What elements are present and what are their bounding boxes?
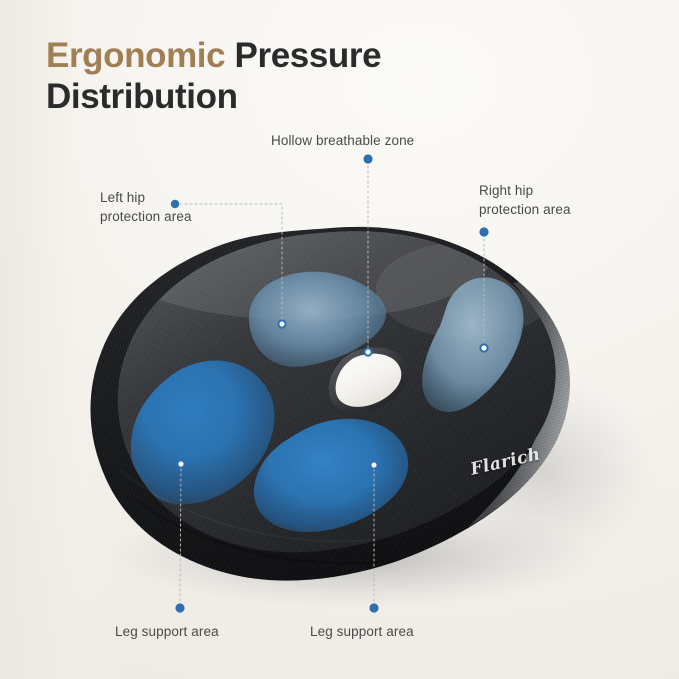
callout-ring-right-hip[interactable] (480, 344, 487, 351)
callout-label-left-hip-protection-area: Left hip protection area (100, 188, 192, 226)
callout-label-leg-support-area-right: Leg support area (310, 622, 414, 641)
callout-label-leg-support-area-left: Leg support area (115, 622, 219, 641)
callout-label-right-hip-protection-area: Right hip protection area (479, 181, 571, 219)
callout-dot-right-hip[interactable] (479, 227, 488, 236)
callout-label-hollow-breathable-zone: Hollow breathable zone (271, 131, 414, 150)
callout-dot-leg-left[interactable] (175, 603, 184, 612)
callout-ring-left-hip[interactable] (278, 320, 285, 327)
infographic-canvas: Ergonomic Pressure Distribution (0, 0, 679, 679)
callout-markers (0, 0, 679, 679)
callout-ring-leg-right[interactable] (370, 461, 377, 468)
callout-ring-leg-left[interactable] (177, 460, 184, 467)
callout-ring-hollow[interactable] (364, 348, 371, 355)
callout-dot-hollow[interactable] (363, 154, 372, 163)
callout-dot-leg-right[interactable] (369, 603, 378, 612)
